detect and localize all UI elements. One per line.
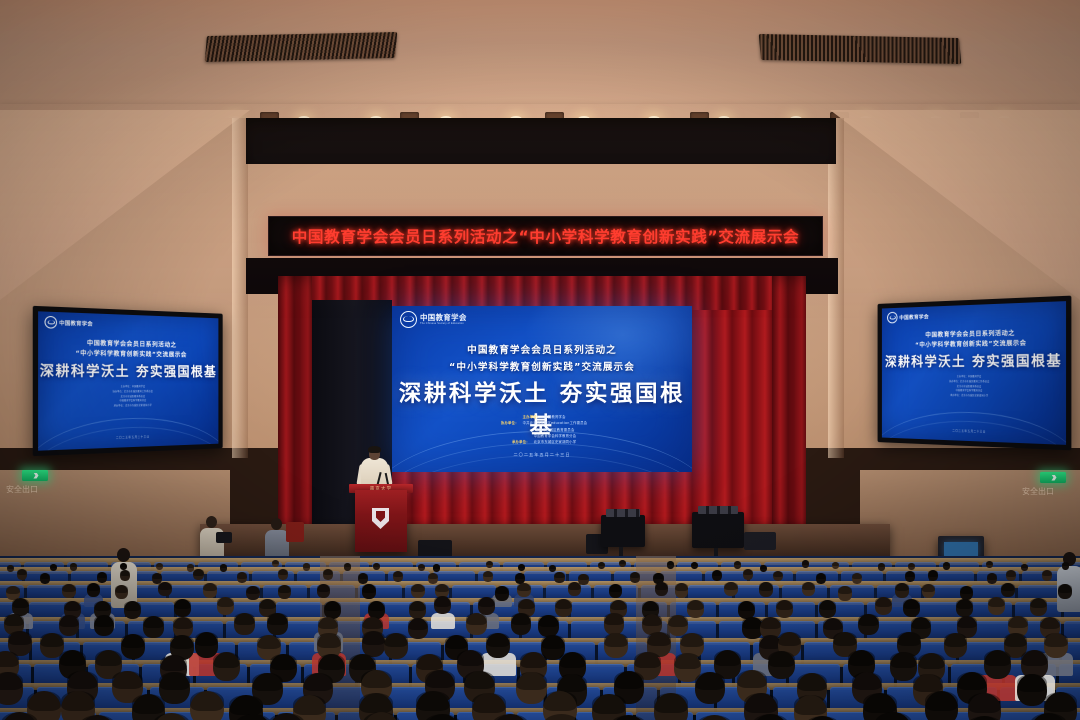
- audience-head: [908, 563, 915, 570]
- main-projection-screen: 中国教育学会 The Chinese Society of Education …: [392, 306, 692, 472]
- audience-head: [903, 599, 920, 617]
- exit-sign-right-label: 安全出口: [1022, 486, 1054, 497]
- audience-head: [220, 564, 227, 571]
- audience-head: [695, 672, 725, 704]
- audience-head: [317, 584, 331, 598]
- audience-head: [124, 601, 141, 619]
- audience-head: [368, 601, 385, 619]
- organizer-row: 协办单位：中共北京市东城区education工作委员会: [497, 420, 588, 425]
- audience-head: [40, 573, 50, 584]
- left-screen-title: 深耕科学沃土 夯实强国根基: [38, 359, 218, 380]
- organizer-label: 主办单位：: [518, 414, 540, 419]
- audience-head: [174, 599, 191, 617]
- right-screen-logo-icon: [887, 312, 897, 324]
- audience-head: [875, 597, 892, 615]
- audience-head: [604, 613, 624, 635]
- audience-head: [478, 597, 495, 615]
- audience-head: [486, 561, 493, 568]
- organizer-label: 协办单位：: [497, 420, 519, 425]
- left-screen-logo-icon: [44, 316, 57, 329]
- audience-head: [838, 586, 852, 600]
- audience-head: [120, 570, 130, 581]
- audience-head: [384, 633, 408, 658]
- organizer-label: 承办单位：: [508, 439, 530, 444]
- audience-head: [358, 573, 368, 584]
- organizer-row: 协办单位：北京市东城区教育工作委员会: [113, 389, 153, 393]
- audience-head: [598, 562, 605, 569]
- audience-head: [568, 582, 582, 596]
- audience-head: [195, 632, 219, 657]
- audience-head: [237, 572, 247, 583]
- audience-head: [675, 583, 689, 597]
- main-screen-subtitle-2: “中小学科学教育创新实践”交流展示会: [392, 359, 692, 373]
- audience-head: [549, 565, 556, 572]
- audience-head: [511, 613, 531, 635]
- audience-head: [516, 672, 546, 704]
- organizer-row: 中国教育学会科学教育分会: [956, 388, 983, 392]
- audience-head: [433, 564, 440, 571]
- organizer-value: 北京市东城区教育委员会: [535, 427, 574, 432]
- audience-head: [538, 615, 558, 637]
- audience-head: [278, 585, 292, 599]
- audience-shoulders: [431, 613, 456, 629]
- audience-head: [418, 564, 425, 571]
- audience-head: [1042, 570, 1052, 581]
- audience-head: [654, 693, 688, 720]
- audience-head: [1006, 570, 1016, 581]
- audience-head: [988, 597, 1005, 615]
- audience-head: [925, 691, 959, 720]
- organizer-row: 北京市东城区教育委员会: [509, 427, 574, 432]
- side-screen-right: 中国教育学会 中国教育学会会员日系列活动之 “中小学科学教育创新实践”交流展示会…: [878, 296, 1072, 451]
- audience-head: [1058, 584, 1072, 598]
- audience-head: [193, 569, 203, 580]
- organizer-row: 主办单位：中国教育学会: [121, 384, 146, 388]
- audience-head: [324, 601, 341, 619]
- hvac-vent-right: [759, 34, 962, 64]
- audience-head: [1017, 674, 1047, 706]
- audience-head: [555, 599, 572, 617]
- exit-sign-left: [22, 470, 48, 481]
- ceiling-recess: [246, 118, 836, 164]
- right-screen-organizers: 主办单位：中国教育学会协办单位：北京市东城区教育工作委员会北京市东城区教育委员会…: [882, 374, 1066, 399]
- organizer-row: 承办单位：北京市东城区史家胡同小学: [114, 403, 152, 408]
- audience-head: [802, 560, 809, 567]
- audience-head: [987, 573, 997, 584]
- stage-floor-monitor: [418, 540, 452, 557]
- right-screen-logo-name: 中国教育学会: [899, 313, 928, 321]
- audience-head: [712, 570, 722, 581]
- audience-head: [59, 615, 79, 637]
- audience-head: [17, 569, 27, 580]
- audience-head: [362, 584, 376, 598]
- led-banner: 中国教育学会会员日系列活动之“中小学科学教育创新实践”交流展示会: [268, 216, 823, 256]
- audience-head: [960, 586, 974, 600]
- society-logo-name: 中国教育学会: [420, 314, 467, 321]
- stage-monitor-2: [692, 512, 744, 548]
- hvac-vent-left: [205, 32, 398, 62]
- audience-head: [852, 573, 862, 584]
- society-logo: 中国教育学会 The Chinese Society of Education: [400, 311, 467, 328]
- audience-head: [517, 583, 531, 597]
- audience-head: [70, 563, 77, 570]
- audience-head: [768, 651, 795, 680]
- organizer-row: 主办单位：中国教育学会: [518, 414, 565, 419]
- audience-head: [411, 584, 425, 598]
- audience-head: [213, 652, 240, 681]
- exit-running-man-icon: [32, 473, 39, 479]
- organizer-value: 北京市东城区史家胡同小学: [534, 439, 577, 444]
- society-logo-subtitle: The Chinese Society of Education: [420, 323, 467, 326]
- stage-curtain-right: [772, 276, 806, 538]
- audience-head: [217, 597, 234, 615]
- audience-head: [984, 650, 1011, 679]
- left-screen-logo: 中国教育学会: [44, 316, 92, 330]
- exit-sign-right: [1040, 472, 1066, 483]
- audience-head: [434, 596, 451, 614]
- audience-head: [272, 560, 279, 567]
- audience-head: [554, 572, 564, 583]
- organizer-row: 北京市东城区教育委员会: [957, 384, 982, 388]
- audience-head: [724, 582, 738, 596]
- speaker-hair: [368, 446, 381, 453]
- audience-head: [393, 571, 403, 582]
- conference-hall-photo: 中国教育学会会员日系列活动之“中小学科学教育创新实践”交流展示会 中国教育学会 …: [0, 0, 1080, 720]
- audience-head: [944, 633, 968, 658]
- audience-head: [776, 600, 793, 618]
- audience-head: [246, 586, 260, 600]
- audience-head: [303, 563, 310, 570]
- audience-head: [759, 582, 773, 596]
- audience-head: [890, 652, 917, 681]
- audience-head: [87, 583, 101, 597]
- organizer-row: 北京市东城区教育委员会: [121, 394, 146, 398]
- organizer-value: 中国教育学会: [544, 414, 565, 419]
- stage-side-equipment: [744, 532, 776, 550]
- audience-head: [922, 584, 936, 598]
- left-screen-logo-name: 中国教育学会: [59, 319, 93, 327]
- organizer-value: 中国教育学会科学教育分会: [534, 433, 577, 438]
- audience-head: [604, 633, 628, 658]
- audience-head: [1030, 598, 1047, 616]
- audience-head: [486, 633, 510, 658]
- audience-head: [62, 584, 76, 598]
- audience-head: [819, 600, 836, 618]
- audience-head: [687, 600, 704, 618]
- audience-head: [956, 599, 973, 617]
- led-banner-text: 中国教育学会会员日系列活动之“中小学科学教育创新实践”交流展示会: [292, 225, 800, 247]
- audience-head: [362, 631, 386, 656]
- audience-head: [895, 583, 909, 597]
- audience-head: [7, 565, 14, 572]
- audience-head: [428, 573, 438, 584]
- audience-head: [408, 618, 428, 640]
- audience-head: [1044, 633, 1068, 658]
- organizer-row: 协办单位：北京市东城区教育工作委员会: [949, 379, 989, 383]
- right-screen-logo: 中国教育学会: [887, 311, 929, 324]
- audience-head: [743, 569, 753, 580]
- audience-head: [0, 672, 23, 704]
- exit-running-man-icon: [1050, 475, 1057, 481]
- audience-head: [483, 571, 493, 582]
- audience-head: [734, 561, 741, 568]
- audience-head: [928, 570, 938, 581]
- audience-seating-area: [0, 556, 1080, 720]
- main-screen-date: 二〇二五年五月二十三日: [392, 452, 692, 458]
- exit-sign-left-label: 安全出口: [6, 484, 38, 495]
- audience-head: [667, 561, 674, 568]
- society-logo-icon: [400, 311, 417, 328]
- audience-head: [94, 615, 114, 637]
- audience-head: [738, 601, 755, 619]
- audience-head: [234, 613, 254, 635]
- organizer-row: 承办单位：北京市东城区史家胡同小学: [508, 439, 577, 444]
- stage-monitor-1: [601, 515, 645, 547]
- audience-head: [344, 563, 351, 570]
- audience-head: [630, 572, 640, 583]
- organizer-value: 中共北京市东城区education工作委员会: [523, 420, 588, 425]
- audience-head: [190, 691, 224, 720]
- audience-head: [203, 583, 217, 597]
- audience-head: [858, 614, 878, 636]
- left-screen-organizers: 主办单位：中国教育学会协办单位：北京市东城区教育工作委员会北京市东城区教育委员会…: [38, 384, 218, 409]
- audience-head: [495, 586, 509, 600]
- audience-head: [1062, 562, 1069, 569]
- organizer-row: 承办单位：北京市东城区史家胡同小学: [950, 393, 988, 397]
- organizer-label: [509, 427, 531, 432]
- side-screen-left: 中国教育学会 中国教育学会会员日系列活动之 “中小学科学教育创新实践”交流展示会…: [33, 306, 223, 456]
- organizer-row: 中国教育学会科学教育分会: [508, 433, 577, 438]
- main-screen-organizers: 主办单位：中国教育学会协办单位：中共北京市东城区education工作委员会北京…: [392, 414, 692, 444]
- audience-head: [943, 562, 950, 569]
- audience-head: [773, 571, 783, 582]
- audience-head: [267, 613, 287, 635]
- right-screen-title: 深耕科学沃土 夯实强国根基: [882, 349, 1066, 370]
- organizer-row: 主办单位：中国教育学会: [957, 374, 982, 378]
- audience-head: [466, 613, 486, 635]
- audience-head: [905, 571, 915, 582]
- main-screen-subtitle-1: 中国教育学会会员日系列活动之: [392, 342, 692, 356]
- organizer-label: [508, 433, 530, 438]
- audience-head: [816, 573, 826, 584]
- audience-head: [120, 563, 127, 570]
- audience-head: [878, 563, 885, 570]
- audience-head: [143, 616, 163, 638]
- audience-head: [1001, 583, 1015, 597]
- organizer-row: 中国教育学会科学教育分会: [119, 398, 146, 402]
- audience-head: [121, 634, 145, 659]
- audience-head: [97, 572, 107, 583]
- audience-head: [323, 569, 333, 580]
- audience-head: [158, 582, 172, 596]
- stage-curtain-left: [278, 276, 312, 538]
- audience-head: [50, 564, 57, 571]
- audience-head: [409, 601, 426, 619]
